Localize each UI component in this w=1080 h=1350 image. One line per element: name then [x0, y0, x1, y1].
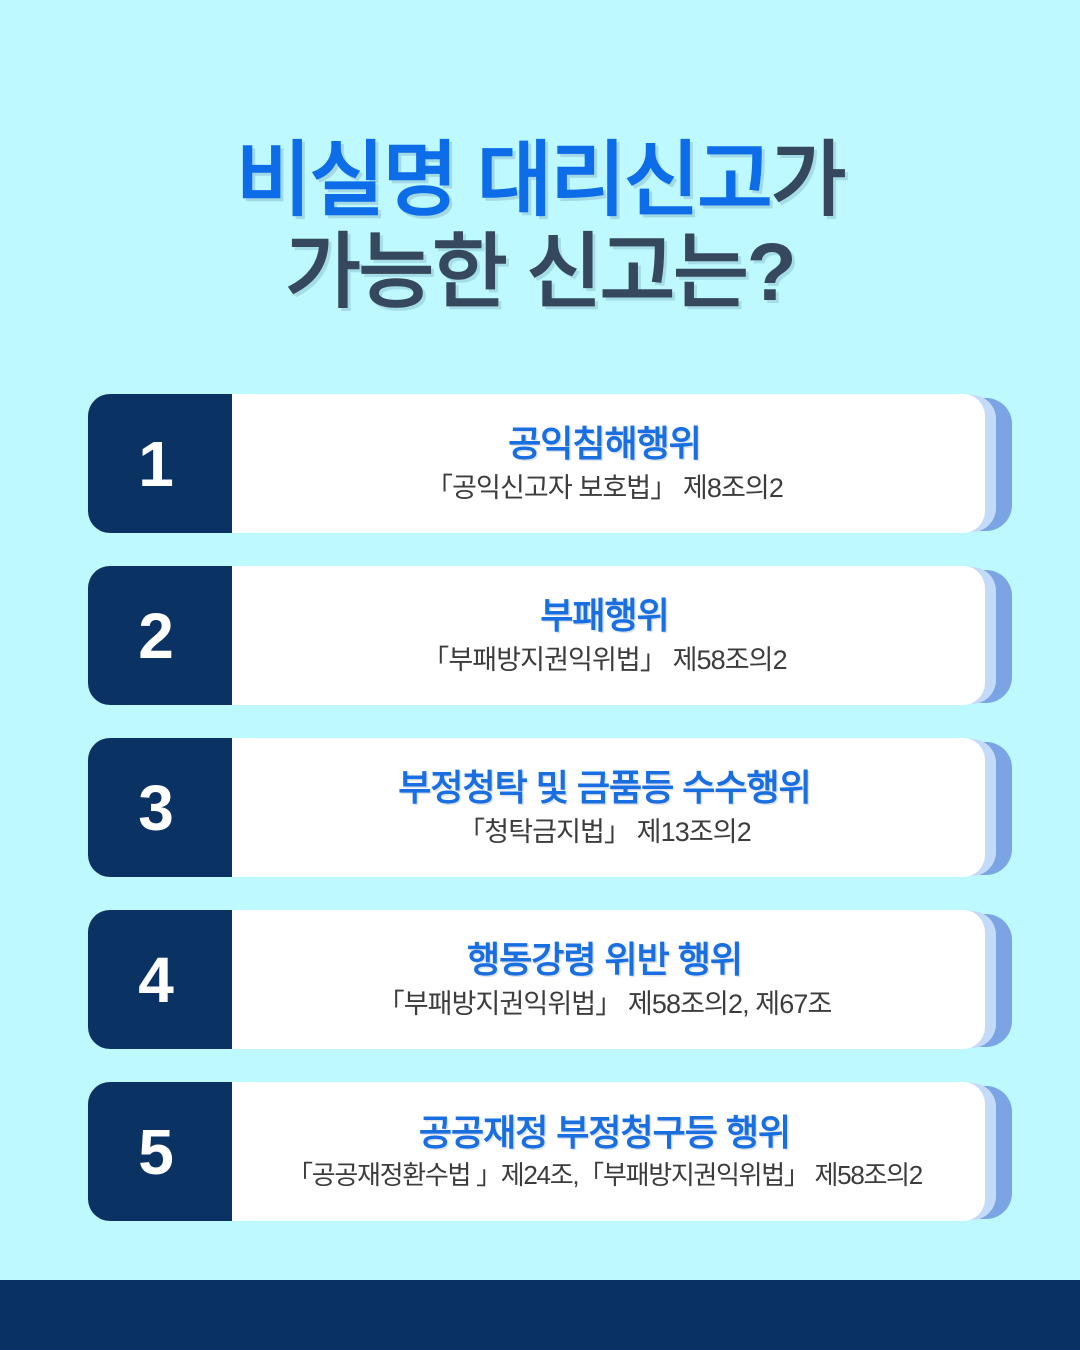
card-body[interactable]: 2 부패행위 「부패방지권익위법」 제58조의2 [88, 566, 985, 705]
item-number-badge: 3 [88, 738, 232, 877]
item-title: 행동강령 위반 행위 [467, 939, 742, 980]
poster-canvas: 비실명 대리신고가 가능한 신고는? 1 공익침해행위 「공익신고자 보호법」 … [0, 0, 1080, 1350]
item-content: 공공재정 부정청구등 행위 「공공재정환수법 」제24조,「부패방지권익위법」 … [232, 1082, 985, 1221]
item-title: 부패행위 [540, 595, 668, 636]
card-body[interactable]: 1 공익침해행위 「공익신고자 보호법」 제8조의2 [88, 394, 985, 533]
item-title: 부정청탁 및 금품등 수수행위 [398, 767, 810, 808]
page-title-line-1: 비실명 대리신고가 [0, 140, 1080, 222]
item-number-badge: 1 [88, 394, 232, 533]
list-item[interactable]: 5 공공재정 부정청구등 행위 「공공재정환수법 」제24조,「부패방지권익위법… [88, 1082, 1018, 1221]
card-body[interactable]: 3 부정청탁 및 금품등 수수행위 「청탁금지법」 제13조의2 [88, 738, 985, 877]
item-title: 공공재정 부정청구등 행위 [419, 1112, 790, 1153]
item-title: 공익침해행위 [508, 423, 701, 464]
item-number-badge: 5 [88, 1082, 232, 1221]
category-list: 1 공익침해행위 「공익신고자 보호법」 제8조의2 2 부패행위 「부패방지권… [88, 394, 1018, 1221]
card-body[interactable]: 5 공공재정 부정청구등 행위 「공공재정환수법 」제24조,「부패방지권익위법… [88, 1082, 985, 1221]
item-content: 부정청탁 및 금품등 수수행위 「청탁금지법」 제13조의2 [232, 738, 985, 877]
list-item[interactable]: 3 부정청탁 및 금품등 수수행위 「청탁금지법」 제13조의2 [88, 738, 1018, 877]
list-item[interactable]: 2 부패행위 「부패방지권익위법」 제58조의2 [88, 566, 1018, 705]
item-legal-reference: 「부패방지권익위법」 제58조의2, 제67조 [378, 988, 832, 1020]
item-legal-reference: 「공익신고자 보호법」 제8조의2 [426, 472, 783, 504]
page-title-highlight: 비실명 대리신고 [236, 135, 771, 226]
item-number-badge: 4 [88, 910, 232, 1049]
card-body[interactable]: 4 행동강령 위반 행위 「부패방지권익위법」 제58조의2, 제67조 [88, 910, 985, 1049]
footer-bar [0, 1280, 1080, 1350]
item-legal-reference: 「부패방지권익위법」 제58조의2 [422, 644, 787, 676]
page-title-line-1-suffix: 가 [771, 135, 844, 226]
list-item[interactable]: 4 행동강령 위반 행위 「부패방지권익위법」 제58조의2, 제67조 [88, 910, 1018, 1049]
item-content: 행동강령 위반 행위 「부패방지권익위법」 제58조의2, 제67조 [232, 910, 985, 1049]
page-title-line-2: 가능한 신고는? [0, 232, 1080, 314]
page-title: 비실명 대리신고가 가능한 신고는? [0, 140, 1080, 314]
item-legal-reference: 「공공재정환수법 」제24조,「부패방지권익위법」 제58조의2 [287, 1160, 922, 1191]
item-legal-reference: 「청탁금지법」 제13조의2 [458, 816, 751, 848]
item-content: 공익침해행위 「공익신고자 보호법」 제8조의2 [232, 394, 985, 533]
item-content: 부패행위 「부패방지권익위법」 제58조의2 [232, 566, 985, 705]
list-item[interactable]: 1 공익침해행위 「공익신고자 보호법」 제8조의2 [88, 394, 1018, 533]
item-number-badge: 2 [88, 566, 232, 705]
